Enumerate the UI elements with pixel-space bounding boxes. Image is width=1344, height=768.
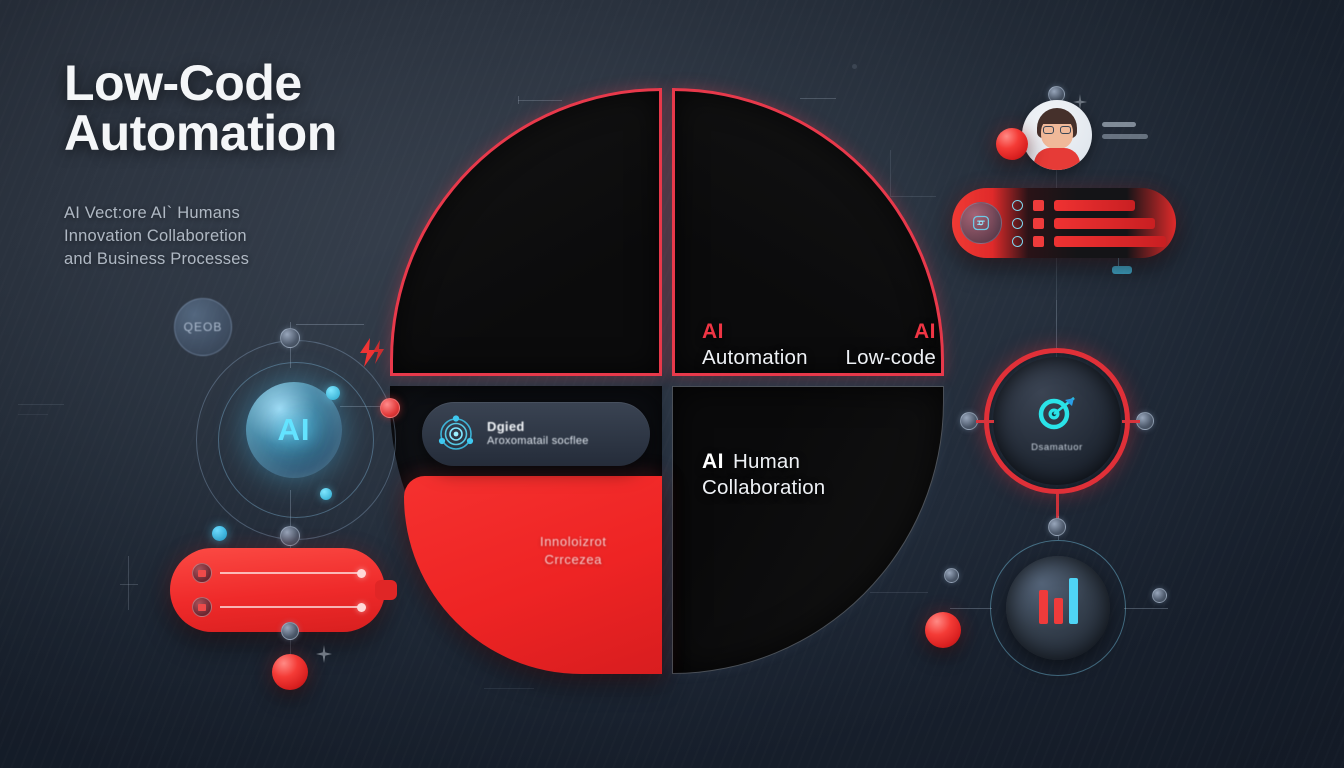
meta-line: [1102, 122, 1136, 127]
progress-bar: [1054, 236, 1166, 247]
lightning-bolt-icon: [356, 336, 390, 370]
node-right-red-icon[interactable]: [380, 398, 400, 418]
settings-slider-card[interactable]: [170, 548, 385, 632]
connector-line: [1118, 258, 1119, 266]
slider-row[interactable]: [192, 597, 363, 617]
orb-badge-label: QEOB: [184, 320, 223, 334]
guide-tick: [484, 688, 534, 689]
headline-block: Low-Code Automation AI Vect:ore AI` Huma…: [64, 58, 484, 271]
subtitle: AI Vect:ore AI` Humans Innovation Collab…: [64, 202, 484, 271]
connector-line: [1122, 420, 1140, 423]
segment-subtitle: Collaboration: [702, 476, 825, 500]
connector-line: [950, 608, 992, 609]
red-badge-3-icon: [1033, 236, 1044, 247]
dot-cyan-icon: [212, 526, 227, 541]
ai-brain-chip-icon: [960, 202, 1002, 244]
card-connector-nub: [375, 580, 397, 600]
decorative-red-sphere: [996, 128, 1028, 160]
progress-bar: [1054, 218, 1155, 229]
avatar-face: [1022, 100, 1092, 170]
decorative-red-sphere: [925, 612, 961, 648]
avatar-meta-lines: [1102, 122, 1148, 146]
page-title-line1: Low-Code: [64, 58, 484, 108]
pie-segment-low-code-label: AI Low-code: [846, 320, 937, 370]
guide-tick: [18, 414, 48, 415]
connector-line: [976, 420, 994, 423]
orb-badge: QEOB: [174, 298, 232, 356]
pie-segment-human-collaboration[interactable]: [672, 386, 944, 674]
node-icon[interactable]: [1152, 588, 1167, 603]
target-dart-icon: [1034, 390, 1080, 436]
connector-line: [1056, 300, 1057, 348]
guide-tick: [18, 404, 64, 405]
slider-knob-icon[interactable]: [192, 563, 212, 583]
cyan-tag-badge: [1112, 266, 1132, 274]
guide-tick: [120, 584, 138, 585]
target-inner: Dsamatuor: [993, 357, 1121, 485]
badge-icon-column: [1033, 200, 1044, 247]
chip-subtitle: Aroxomatail socflee: [487, 435, 589, 447]
slider-knob-icon[interactable]: [192, 597, 212, 617]
guide-dot: [852, 64, 857, 69]
subtitle-line-2: Innovation Collaboretion: [64, 225, 484, 248]
node-icon[interactable]: [281, 622, 299, 640]
guide-tick: [128, 556, 129, 610]
segment-title: Innoloizrot: [540, 533, 607, 551]
segment-ai-tag: AI: [702, 450, 724, 474]
segment-ai-tag: AI: [702, 320, 808, 344]
avatar-fringe: [1039, 113, 1075, 124]
ai-orb-cluster: AI QEOB: [196, 340, 396, 540]
red-badge-2-icon: [1033, 218, 1044, 229]
segment-title: Human: [733, 450, 800, 474]
avatar-glasses-left-icon: [1043, 126, 1054, 134]
chip-title: Dgied: [487, 419, 589, 434]
red-badge-1-icon: [1033, 200, 1044, 211]
node-icon[interactable]: [1048, 518, 1066, 536]
analytics-chart-orb[interactable]: [990, 540, 1126, 676]
bar-chart-bar: [1054, 598, 1063, 624]
bar-chart-bar: [1069, 578, 1078, 624]
subtitle-line-3: and Business Processes: [64, 248, 484, 271]
eye-icon: [1012, 236, 1023, 247]
segment-subtitle: Crrcezea: [540, 551, 607, 569]
pie-segment-innovation-process[interactable]: [404, 476, 662, 674]
infographic-canvas: Low-Code Automation AI Vect:ore AI` Huma…: [0, 0, 1344, 768]
node-top-icon[interactable]: [280, 328, 300, 348]
node-bottom-icon[interactable]: [280, 526, 300, 546]
avatar-body: [1034, 148, 1080, 170]
bar-chart-bar: [1039, 590, 1048, 624]
sparkle-icon: [312, 642, 336, 666]
ai-status-pill[interactable]: [952, 188, 1176, 258]
progress-bar: [1054, 200, 1135, 211]
chip-text: Dgied Aroxomatail socflee: [487, 419, 589, 449]
decorative-red-sphere: [272, 654, 308, 690]
avatar-glasses-right-icon: [1060, 126, 1071, 134]
pie-segment-innovation-process-label: Innoloizrot Crrcezea: [540, 533, 607, 569]
meta-line: [1102, 134, 1148, 139]
segment-title: Low-code: [846, 346, 937, 370]
orbit-dot-cyan-icon: [326, 386, 340, 400]
spiral-tech-icon: [436, 414, 476, 454]
target-metric-node[interactable]: Dsamatuor: [984, 348, 1130, 494]
refresh-icon: [1012, 218, 1023, 229]
chart-sphere: [1006, 556, 1110, 660]
connector-line: [1124, 608, 1168, 609]
user-avatar[interactable]: [1022, 100, 1092, 170]
digital-automation-chip[interactable]: Dgied Aroxomatail socflee: [422, 402, 650, 466]
target-caption: Dsamatuor: [1031, 442, 1083, 453]
pie-segment-human-collaboration-label: AI Human Collaboration: [702, 448, 825, 500]
status-icon-column: [1012, 200, 1023, 247]
ai-orb-label: AI: [278, 412, 311, 448]
slider-track[interactable]: [220, 606, 363, 608]
segment-ai-tag: AI: [846, 320, 937, 344]
progress-bar-group: [1054, 200, 1166, 247]
slider-row[interactable]: [192, 563, 363, 583]
page-title-line2: Automation: [64, 108, 484, 158]
subtitle-line-1: AI Vect:ore AI` Humans: [64, 202, 484, 225]
segment-title: Automation: [702, 346, 808, 370]
gear-icon: [1012, 200, 1023, 211]
slider-track[interactable]: [220, 572, 363, 574]
connector-line: [296, 324, 364, 325]
node-icon[interactable]: [944, 568, 959, 583]
orbit-dot-cyan-icon: [320, 488, 332, 500]
pie-segment-automation-label: AI Automation: [702, 320, 808, 370]
